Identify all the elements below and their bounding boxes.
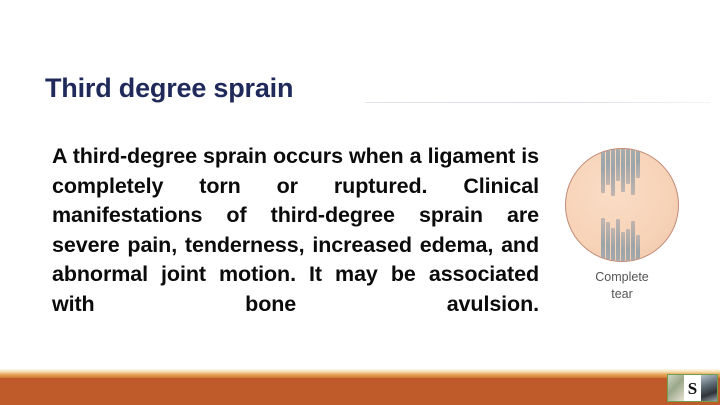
- ligament-fiber: [631, 221, 635, 262]
- ligament-fiber: [601, 148, 605, 193]
- footer-accent-gradient: [0, 369, 720, 378]
- figure-caption-line-2: tear: [560, 286, 684, 303]
- ligament-fiber: [606, 148, 610, 185]
- footer-bar: [0, 378, 720, 405]
- figure-caption: Complete tear: [560, 269, 684, 303]
- page-title: Third degree sprain: [45, 72, 293, 104]
- corner-watermark-badge: S: [667, 374, 718, 402]
- title-underline-rule: [365, 102, 710, 103]
- slide-body-paragraph: A third-degree sprain occurs when a liga…: [52, 142, 539, 349]
- figure-caption-line-1: Complete: [560, 269, 684, 286]
- figure-container: Complete tear: [560, 148, 684, 303]
- badge-thumbnail-left-icon: [668, 375, 684, 401]
- badge-letter-s: S: [684, 375, 700, 401]
- ligament-fiber: [611, 148, 615, 196]
- ligament-fiber: [636, 235, 640, 262]
- ligament-fiber-bundle-lower: [594, 215, 646, 262]
- ligament-fiber: [616, 219, 620, 262]
- slide-title-block: Third degree sprain: [45, 72, 670, 108]
- badge-thumbnail-right-icon: [701, 375, 717, 401]
- ligament-fiber: [626, 148, 630, 184]
- ligament-fiber: [621, 232, 625, 262]
- ligament-fiber: [606, 222, 610, 262]
- ligament-fiber: [621, 148, 625, 192]
- ligament-fiber: [601, 218, 605, 263]
- ligament-fiber: [611, 228, 615, 262]
- ligament-fiber-bundle-upper: [594, 148, 646, 199]
- complete-tear-illustration: [565, 148, 679, 262]
- presentation-slide: Third degree sprain A third-degree sprai…: [0, 0, 720, 405]
- ligament-fiber: [626, 229, 630, 262]
- ligament-fiber: [631, 148, 635, 195]
- ligament-fiber: [636, 148, 640, 178]
- ligament-fiber: [616, 148, 620, 181]
